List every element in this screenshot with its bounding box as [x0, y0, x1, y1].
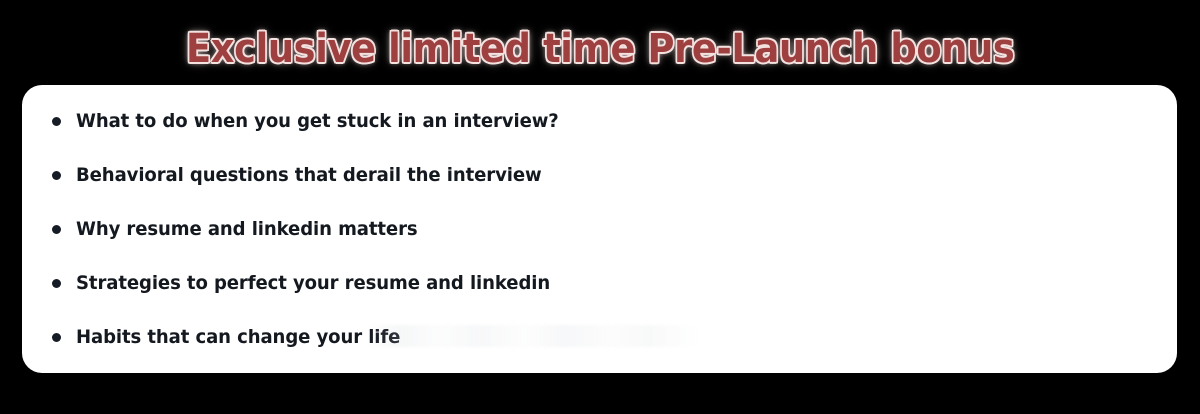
list-item-label: Why resume and linkedin matters: [76, 218, 418, 240]
bonus-card: What to do when you get stuck in an inte…: [22, 85, 1177, 373]
bullet-dot-icon: [52, 333, 61, 342]
list-item: Strategies to perfect your resume and li…: [52, 269, 575, 297]
list-item: Habits that can change your life: [52, 323, 417, 351]
page-title: Exclusive limited time Pre-Launch bonus: [186, 29, 1014, 69]
list-item-label: Habits that can change your life: [76, 326, 400, 348]
list-item-label: Strategies to perfect your resume and li…: [76, 272, 550, 294]
title-area: Exclusive limited time Pre-Launch bonus: [0, 22, 1200, 76]
bullet-dot-icon: [52, 117, 61, 126]
list-item-label: Behavioral questions that derail the int…: [76, 164, 542, 186]
bonus-slide: Exclusive limited time Pre-Launch bonus …: [0, 0, 1200, 414]
bullet-dot-icon: [52, 279, 61, 288]
bullet-dot-icon: [52, 225, 61, 234]
list-item-label: What to do when you get stuck in an inte…: [76, 110, 559, 132]
list-item: Behavioral questions that derail the int…: [52, 161, 566, 189]
list-item: What to do when you get stuck in an inte…: [52, 107, 584, 135]
bullet-dot-icon: [52, 171, 61, 180]
bonus-list: What to do when you get stuck in an inte…: [52, 85, 1153, 373]
list-item: Why resume and linkedin matters: [52, 215, 436, 243]
